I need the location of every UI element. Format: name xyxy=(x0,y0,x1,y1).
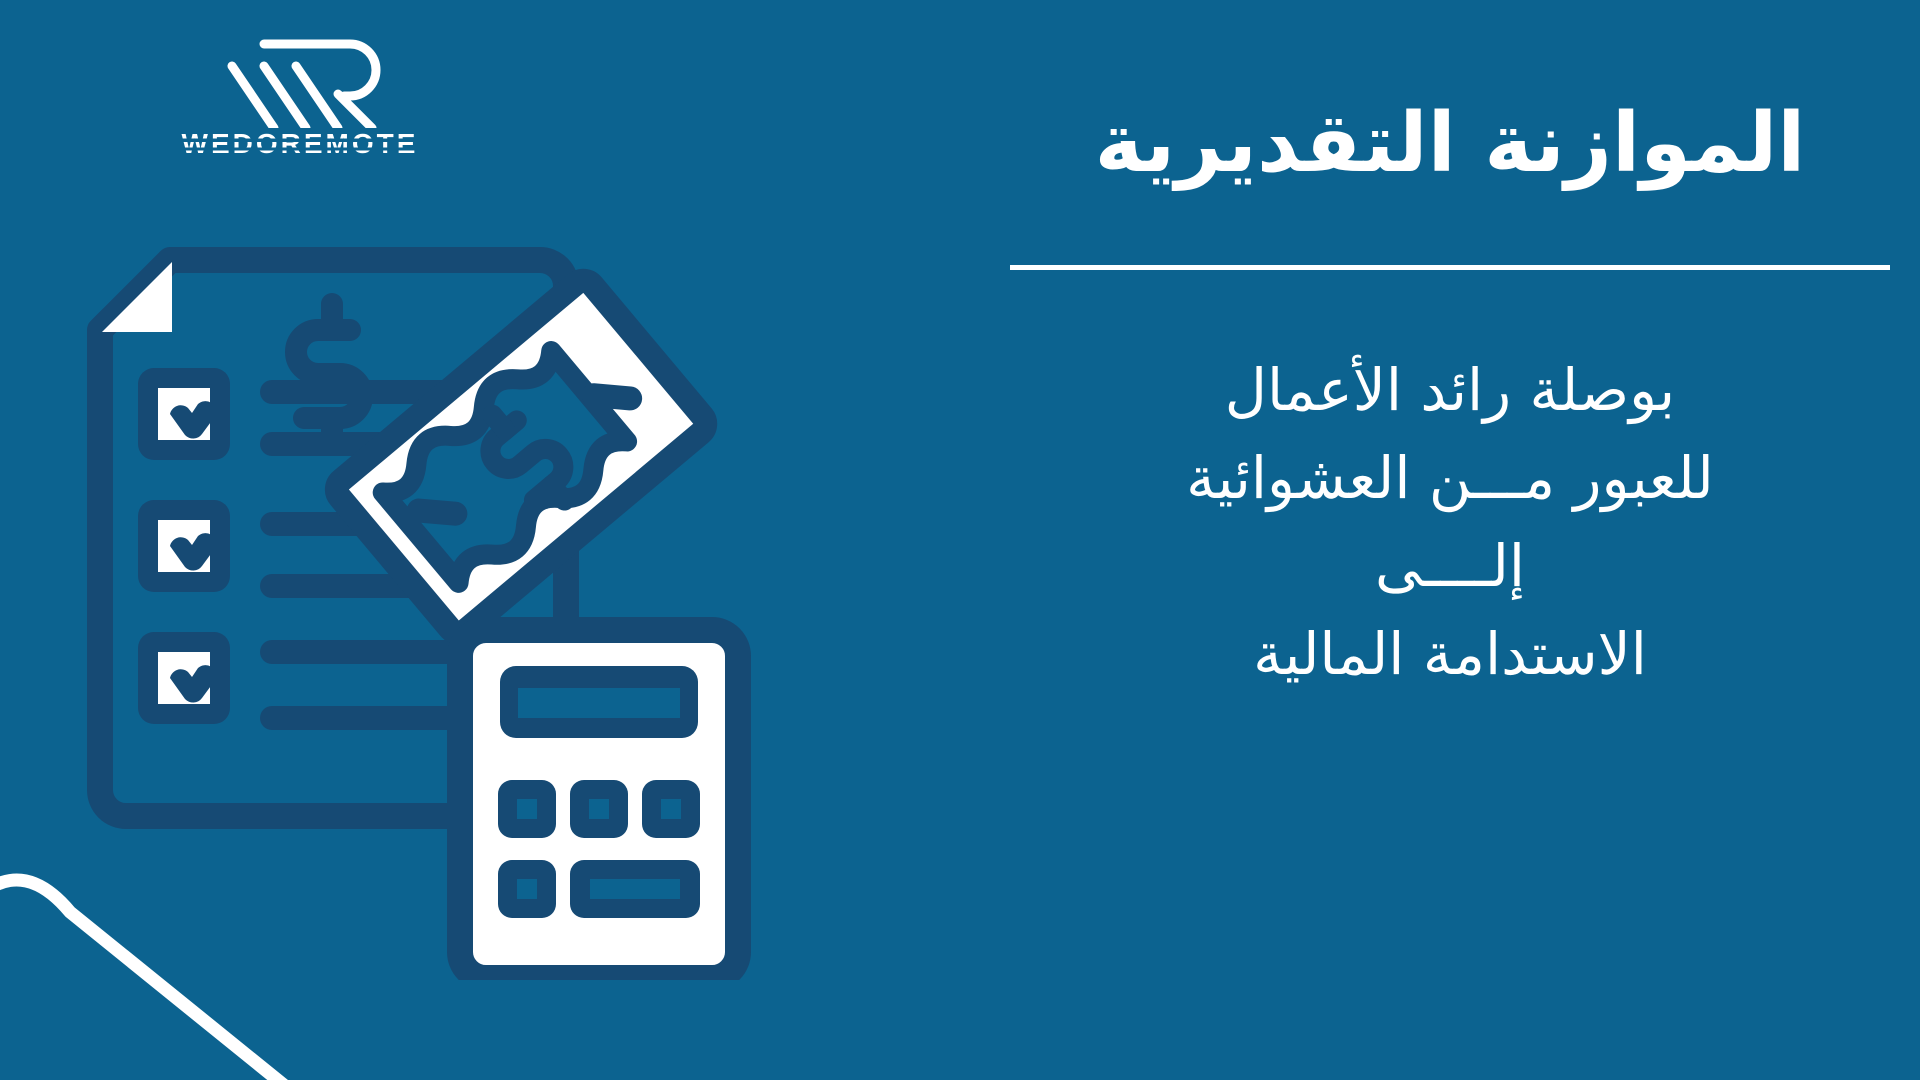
checkbox-checked-icon xyxy=(138,500,230,592)
body-line-4: الاستدامة المالية xyxy=(1010,610,1890,698)
body-line-2: للعبور مـــن العشوائية xyxy=(1010,434,1890,522)
content-column: الموازنة التقديرية بوصلة رائد الأعمال لل… xyxy=(980,0,1920,1080)
brand-logo[interactable]: WEDOREMOTE xyxy=(170,28,430,168)
checkbox-checked-icon xyxy=(138,632,230,724)
title-divider xyxy=(1010,265,1890,270)
page-title: الموازنة التقديرية xyxy=(980,96,1920,193)
body-line-3: إلــــى xyxy=(1010,522,1890,610)
body-text: بوصلة رائد الأعمال للعبور مـــن العشوائي… xyxy=(980,346,1920,699)
calculator-icon xyxy=(460,630,738,978)
dollar-sign-icon xyxy=(296,304,362,444)
body-line-1: بوصلة رائد الأعمال xyxy=(1010,346,1890,434)
checkbox-checked-icon xyxy=(138,368,230,460)
slide-root: WEDOREMOTE xyxy=(0,0,1920,1080)
brand-wordmark: WEDOREMOTE xyxy=(170,130,430,158)
wedoremote-monogram-icon xyxy=(202,28,402,128)
curved-line-decoration xyxy=(0,820,320,1080)
